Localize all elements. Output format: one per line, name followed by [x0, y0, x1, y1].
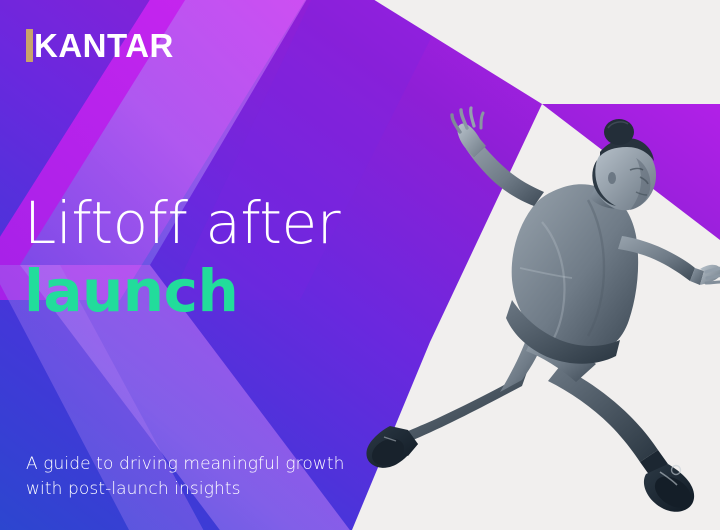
cover-headline: Liftoff after launch [24, 190, 340, 324]
left-hand [452, 108, 486, 157]
figure-body [366, 108, 720, 514]
headline-line-2: launch [24, 258, 340, 324]
kantar-logo: KANTAR [26, 26, 174, 64]
report-cover: KANTAR Liftoff after launch A guide to d… [0, 0, 720, 530]
hair-bun [604, 119, 634, 145]
cover-subtitle: A guide to driving meaningful growth wit… [26, 452, 344, 502]
subtitle-line-2: with post-launch insights [26, 477, 344, 502]
kantar-logo-stem-icon [26, 29, 33, 62]
headline-line-1: Liftoff after [24, 190, 340, 256]
ear [608, 172, 616, 184]
subtitle-line-1: A guide to driving meaningful growth [26, 452, 344, 477]
kantar-logo-text: KANTAR [34, 29, 174, 62]
leading-lower-leg [548, 366, 658, 462]
right-hand [700, 265, 720, 285]
